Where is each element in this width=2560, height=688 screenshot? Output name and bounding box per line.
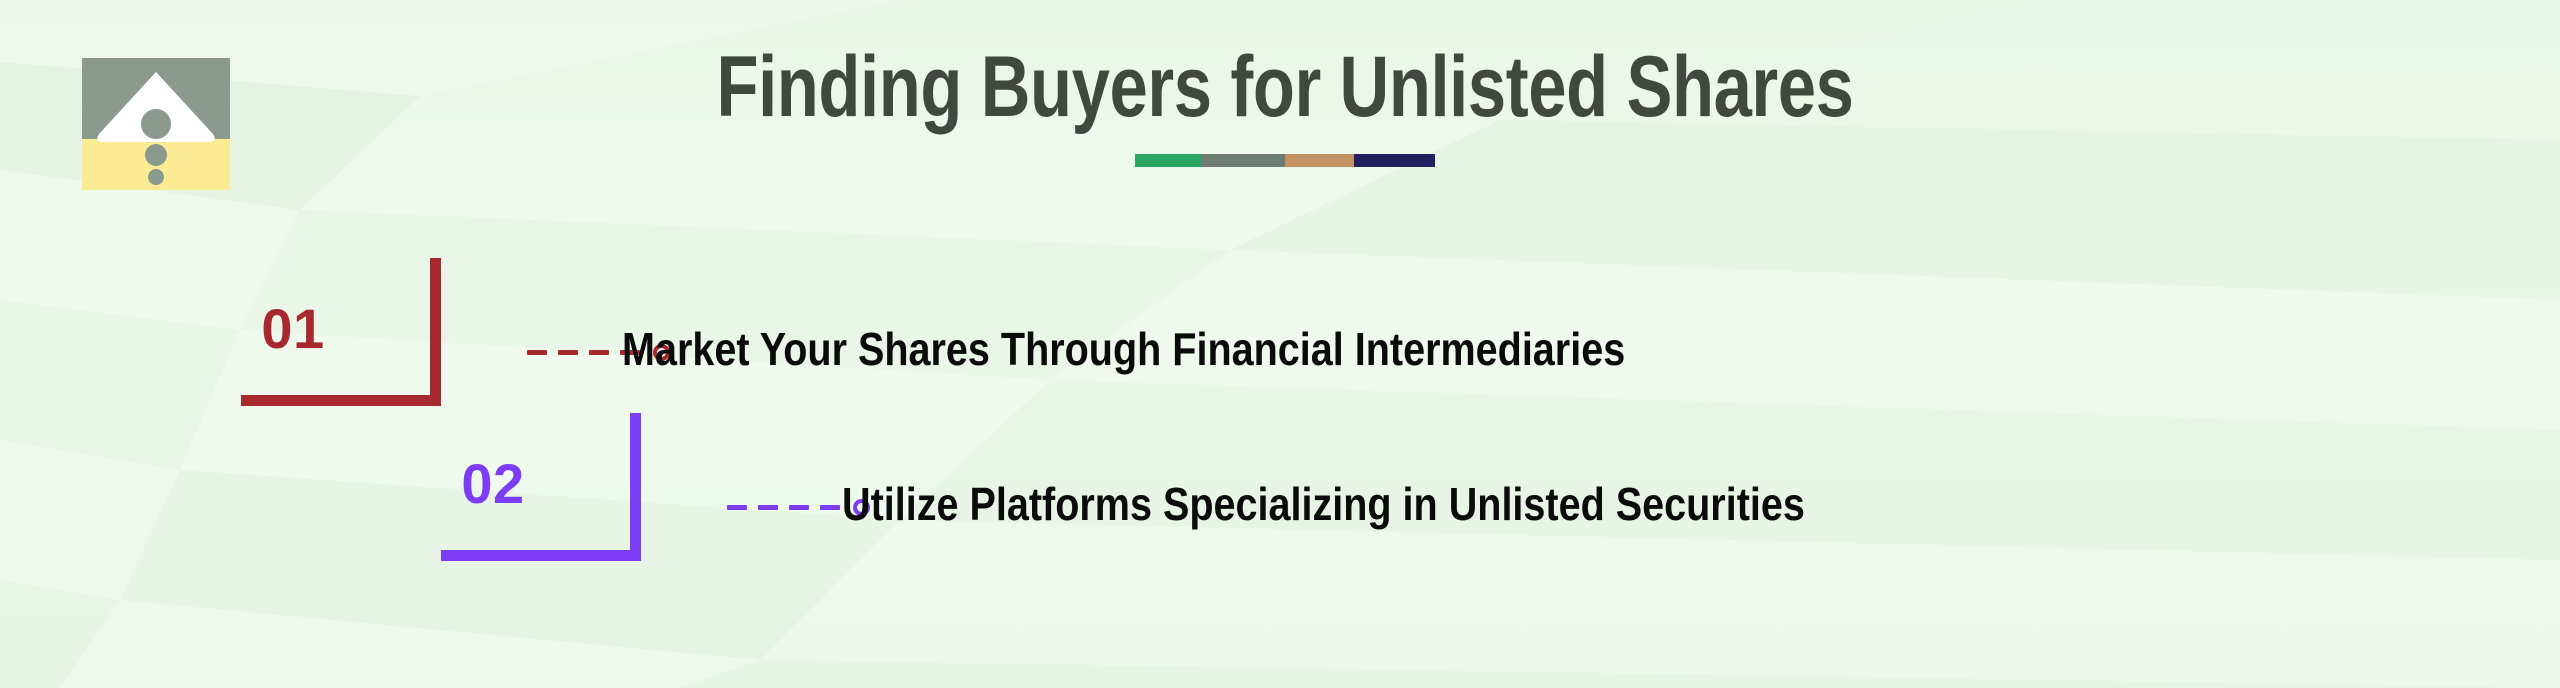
bracket-horizontal-bar — [441, 550, 641, 561]
item-label: Utilize Platforms Specializing in Unlist… — [842, 481, 1805, 527]
header-block: Finding Buyers for Unlisted Shares — [520, 42, 2050, 167]
bracket-vertical-bar — [630, 413, 641, 561]
dash-segment — [589, 350, 609, 355]
item-bracket — [337, 258, 441, 406]
divider-segment-navy — [1354, 154, 1435, 167]
item-number: 01 — [245, 301, 341, 357]
dash-segment — [758, 505, 778, 510]
item-bracket — [537, 413, 641, 561]
item-number: 02 — [445, 456, 541, 512]
bracket-horizontal-bar — [241, 395, 441, 406]
logo-triangle-icon — [82, 58, 230, 190]
bracket-vertical-bar — [430, 258, 441, 406]
dash-segment — [527, 350, 547, 355]
divider-segment-gray-green — [1201, 154, 1285, 167]
dash-segment — [820, 505, 840, 510]
page-title: Finding Buyers for Unlisted Shares — [673, 42, 1897, 132]
brand-logo — [82, 58, 230, 190]
title-divider-bar — [1135, 154, 1435, 167]
dash-segment — [727, 505, 747, 510]
divider-segment-green — [1135, 154, 1201, 167]
slide-canvas: Finding Buyers for Unlisted Shares 01 Ma… — [0, 0, 2560, 688]
divider-segment-tan — [1285, 154, 1354, 167]
dash-segment — [789, 505, 809, 510]
item-label: Market Your Shares Through Financial Int… — [622, 326, 1625, 372]
dash-segment — [558, 350, 578, 355]
